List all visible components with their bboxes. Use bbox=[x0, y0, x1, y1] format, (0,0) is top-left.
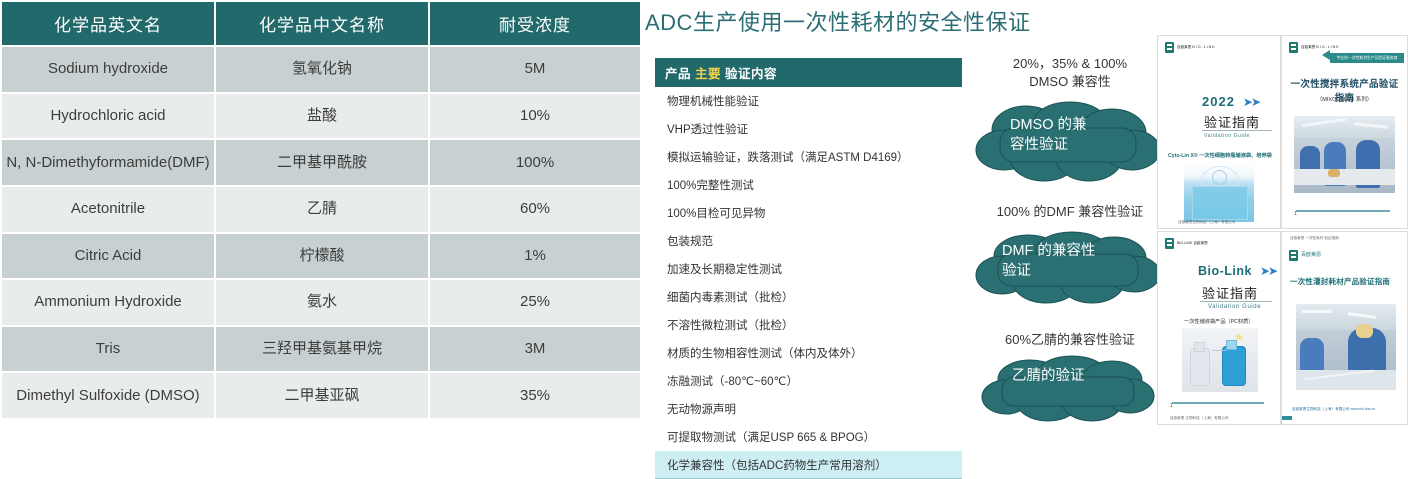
cell-chinese-name: 氨水 bbox=[216, 280, 428, 325]
document-cn-title: 一次性灌封耗材产品验证指南 bbox=[1290, 276, 1400, 287]
document-page-bar bbox=[1296, 210, 1390, 212]
validation-list-item[interactable]: 物理机械性能验证 bbox=[655, 87, 962, 115]
document-title-rule bbox=[1200, 301, 1272, 302]
cloud-shape-dmf: DMF 的兼容性 验证 bbox=[974, 230, 1166, 308]
document-cn-title: 验证指南 bbox=[1204, 112, 1260, 131]
cloud-label-acetonitrile: 乙腈的验证 bbox=[1012, 367, 1085, 387]
logo-text: 百欧莱恩 B I O - L I N K bbox=[1177, 45, 1215, 49]
cell-concentration: 25% bbox=[430, 280, 640, 325]
document-subtitle: 一次性储液袋产品（PC材质） bbox=[1184, 318, 1253, 325]
column-header-chinese-name: 化学品中文名称 bbox=[216, 2, 428, 45]
validation-list-item[interactable]: 可提取物测试（满足USP 665 & BPOG） bbox=[655, 423, 962, 451]
logo-text: BIO-LINK 百欧莱恩 bbox=[1177, 241, 1208, 245]
cell-chinese-name: 乙腈 bbox=[216, 187, 428, 232]
cell-concentration: 5M bbox=[430, 47, 640, 92]
validation-list-item[interactable]: 包装规范 bbox=[655, 227, 962, 255]
chevron-double-right-icon: ➤➤ bbox=[1243, 95, 1259, 109]
cloud-label-dmf-line1: DMF 的兼容性 bbox=[1002, 242, 1095, 262]
compatibility-clouds-column: 20%，35% & 100% DMSO 兼容性 DMSO 的兼 容性验证 bbox=[970, 55, 1170, 420]
cell-concentration: 1% bbox=[430, 234, 640, 279]
validation-list-item[interactable]: 100%完整性测试 bbox=[655, 171, 962, 199]
table-row: Tris三羟甲基氨基甲烷3M bbox=[2, 327, 640, 372]
cell-english-name: Ammonium Hydroxide bbox=[2, 280, 214, 325]
document-page-number: 1 bbox=[1294, 211, 1297, 217]
column-header-concentration: 耐受浓度 bbox=[430, 2, 640, 45]
table-row: Sodium hydroxide氢氧化钠5M bbox=[2, 47, 640, 92]
cloud-label-acetonitrile-line1: 乙腈的验证 bbox=[1012, 367, 1085, 387]
right-content-pane: ADC生产使用一次性耗材的安全性保证 产品 主要 验证内容 物理机械性能验证VH… bbox=[640, 0, 1408, 427]
validation-list-item[interactable]: 模拟运输验证，跌落测试（满足ASTM D4169） bbox=[655, 143, 962, 171]
document-corner-mark bbox=[1282, 416, 1292, 420]
cell-chinese-name: 氢氧化钠 bbox=[216, 47, 428, 92]
cloud-shape-dmso: DMSO 的兼 容性验证 bbox=[974, 100, 1166, 186]
cell-chinese-name: 二甲基甲酰胺 bbox=[216, 140, 428, 185]
validation-header-highlight: 主要 bbox=[695, 67, 721, 81]
chemical-compatibility-table: 化学品英文名 化学品中文名称 耐受浓度 Sodium hydroxide氢氧化钠… bbox=[0, 0, 642, 420]
validation-list-item[interactable]: 不溶性微粒测试（批检） bbox=[655, 311, 962, 339]
validation-list-item[interactable]: 细菌内毒素测试（批检） bbox=[655, 283, 962, 311]
logo-mark-icon bbox=[1165, 238, 1174, 249]
cloud-icon-acetonitrile bbox=[980, 355, 1160, 425]
table-row: Citric Acid柠檬酸1% bbox=[2, 234, 640, 279]
cloud-caption-acetonitrile-line1: 60%乙腈的兼容性验证 bbox=[970, 331, 1170, 349]
document-cover-photo bbox=[1182, 328, 1258, 392]
validation-list-item[interactable]: 100%目检可见异物 bbox=[655, 199, 962, 227]
column-header-english-name: 化学品英文名 bbox=[2, 2, 214, 45]
document-cover-photo bbox=[1296, 304, 1396, 390]
cell-concentration: 10% bbox=[430, 94, 640, 139]
document-en-title: Validation Guide bbox=[1208, 304, 1261, 310]
cell-english-name: Hydrochloric acid bbox=[2, 94, 214, 139]
document-thumbnail-disposable-bag-guide[interactable]: 百欧莱恩 一次性耗材 验证指南 百欧莱恩 一次性灌封耗材产品验证指南 百欧莱恩生… bbox=[1281, 231, 1408, 425]
cloud-caption-dmso: 20%，35% & 100% DMSO 兼容性 bbox=[970, 55, 1170, 90]
validation-list-item[interactable]: 无动物源声明 bbox=[655, 395, 962, 423]
document-title-rule bbox=[1202, 130, 1272, 131]
cell-chinese-name: 三羟甲基氨基甲烷 bbox=[216, 327, 428, 372]
cell-chinese-name: 盐酸 bbox=[216, 94, 428, 139]
cloud-label-dmso: DMSO 的兼 容性验证 bbox=[1010, 116, 1087, 155]
table-header-row: 化学品英文名 化学品中文名称 耐受浓度 bbox=[2, 2, 640, 45]
cell-chinese-name: 二甲基亚砜 bbox=[216, 373, 428, 418]
cloud-label-dmf-line2: 验证 bbox=[1002, 262, 1095, 282]
document-ribbon: 专业的一次性耗材生产及验证服务商 bbox=[1330, 53, 1404, 63]
document-footer: 百欧莱恩 生物科技（上海）有限公司 bbox=[1170, 416, 1229, 421]
chevron-double-right-icon: ➤➤ bbox=[1260, 264, 1276, 278]
cloud-shape-acetonitrile: 乙腈的验证 bbox=[980, 355, 1160, 425]
cloud-caption-acetonitrile: 60%乙腈的兼容性验证 bbox=[970, 331, 1170, 349]
document-header-note: 百欧莱恩 一次性耗材 验证指南 bbox=[1290, 236, 1339, 241]
validation-list-item[interactable]: 加速及长期稳定性测试 bbox=[655, 255, 962, 283]
validation-list-item[interactable]: VHP透过性验证 bbox=[655, 115, 962, 143]
cell-english-name: Sodium hydroxide bbox=[2, 47, 214, 92]
document-footer: 百欧莱恩生物科技（上海）有限公司 bbox=[1178, 220, 1236, 225]
cell-chinese-name: 柠檬酸 bbox=[216, 234, 428, 279]
logo-text: 百欧莱恩 bbox=[1301, 252, 1321, 258]
logo-mark-icon bbox=[1165, 42, 1174, 53]
brand-logo-icon: 百欧莱恩 bbox=[1289, 250, 1321, 261]
cell-concentration: 60% bbox=[430, 187, 640, 232]
document-en-title: Validation Guide bbox=[1204, 133, 1250, 139]
document-cn-title: 验证指南 bbox=[1202, 283, 1258, 302]
validation-content-list: 产品 主要 验证内容 物理机械性能验证VHP透过性验证模拟运输验证，跌落测试（满… bbox=[655, 58, 962, 479]
cell-english-name: N, N-Dimethyformamide(DMF) bbox=[2, 140, 214, 185]
document-footer: 百欧莱恩生物科技（上海）有限公司 www.bio-link.cn bbox=[1292, 407, 1375, 412]
document-page-number: 1 bbox=[1170, 403, 1173, 409]
cell-concentration: 100% bbox=[430, 140, 640, 185]
validation-header-suffix: 验证内容 bbox=[721, 67, 777, 81]
validation-items-container: 物理机械性能验证VHP透过性验证模拟运输验证，跌落测试（满足ASTM D4169… bbox=[655, 87, 962, 479]
document-year: 2022 bbox=[1202, 94, 1235, 109]
brand-logo-icon: 百欧莱恩 B I O - L I N K bbox=[1165, 42, 1215, 53]
validation-list-header: 产品 主要 验证内容 bbox=[655, 58, 962, 87]
document-cover-photo bbox=[1184, 164, 1254, 222]
validation-list-item[interactable]: 冻融测试（-80℃~60℃） bbox=[655, 367, 962, 395]
cell-english-name: Tris bbox=[2, 327, 214, 372]
validation-list-item[interactable]: 材质的生物相容性测试（体内及体外） bbox=[655, 339, 962, 367]
cell-english-name: Citric Acid bbox=[2, 234, 214, 279]
cell-concentration: 3M bbox=[430, 327, 640, 372]
cell-english-name: Dimethyl Sulfoxide (DMSO) bbox=[2, 373, 214, 418]
document-thumbnail-biolink-validation-guide[interactable]: BIO-LINK 百欧莱恩 Bio-Link ➤➤ 验证指南 Validatio… bbox=[1157, 231, 1281, 425]
validation-list-item[interactable]: 化学兼容性（包括ADC药物生产常用溶剂） bbox=[655, 451, 962, 479]
brand-logo-icon: 百欧莱恩 B I O - L I N K bbox=[1289, 42, 1339, 53]
table-row: Acetonitrile乙腈60% bbox=[2, 187, 640, 232]
table-row: Hydrochloric acid盐酸10% bbox=[2, 94, 640, 139]
cloud-caption-dmso-line2: DMSO 兼容性 bbox=[970, 73, 1170, 91]
validation-header-prefix: 产品 bbox=[665, 67, 695, 81]
document-page-bar bbox=[1172, 402, 1264, 404]
cloud-caption-dmf: 100% 的DMF 兼容性验证 bbox=[970, 203, 1170, 221]
logo-text: 百欧莱恩 B I O - L I N K bbox=[1301, 45, 1339, 49]
cloud-label-dmso-line1: DMSO 的兼 bbox=[1010, 116, 1087, 136]
table-row: N, N-Dimethyformamide(DMF)二甲基甲酰胺100% bbox=[2, 140, 640, 185]
cloud-caption-dmf-line1: 100% 的DMF 兼容性验证 bbox=[970, 203, 1170, 221]
document-cover-photo bbox=[1294, 116, 1395, 193]
table-row: Ammonium Hydroxide氨水25% bbox=[2, 280, 640, 325]
cloud-label-dmf: DMF 的兼容性 验证 bbox=[1002, 242, 1095, 281]
document-thumbnail-mixer-system-guide[interactable]: 百欧莱恩 B I O - L I N K 专业的一次性耗材生产及验证服务商 一次… bbox=[1281, 35, 1408, 229]
brand-logo-icon: BIO-LINK 百欧莱恩 bbox=[1165, 238, 1208, 249]
logo-mark-icon bbox=[1289, 42, 1298, 53]
cell-english-name: Acetonitrile bbox=[2, 187, 214, 232]
cloud-caption-dmso-line1: 20%，35% & 100% bbox=[970, 55, 1170, 73]
table-row: Dimethyl Sulfoxide (DMSO)二甲基亚砜35% bbox=[2, 373, 640, 418]
cloud-label-dmso-line2: 容性验证 bbox=[1010, 136, 1087, 156]
cell-concentration: 35% bbox=[430, 373, 640, 418]
logo-mark-icon bbox=[1289, 250, 1298, 261]
ribbon-arrow-icon bbox=[1322, 50, 1330, 60]
document-subtitle: （MIXOCELL® 系列） bbox=[1288, 95, 1401, 103]
document-subtitle: Cyto-Lin X® 一次性细胞转瓶储液袋、培养袋 bbox=[1168, 152, 1272, 159]
page-title: ADC生产使用一次性耗材的安全性保证 bbox=[645, 5, 1030, 37]
document-thumbnail-validation-guide-2022[interactable]: 百欧莱恩 B I O - L I N K 2022 ➤➤ 验证指南 Valida… bbox=[1157, 35, 1281, 229]
document-brand: Bio-Link bbox=[1198, 264, 1252, 278]
